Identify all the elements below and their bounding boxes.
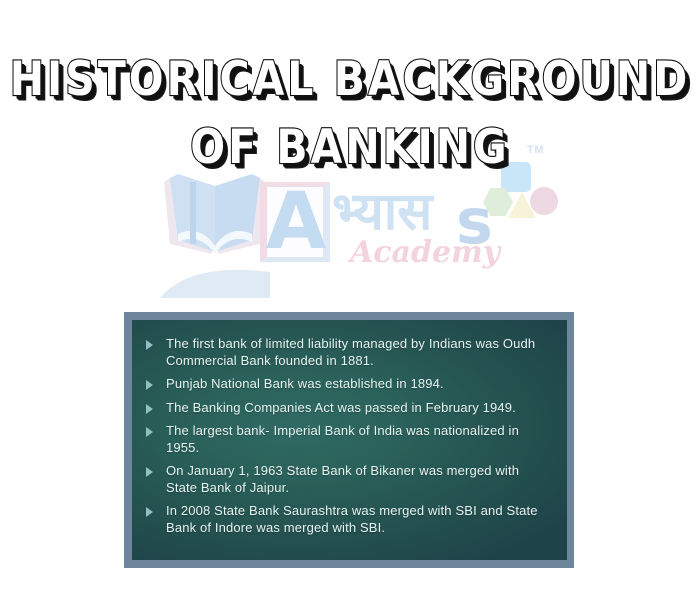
open-book-icon: [160, 168, 270, 260]
circle-shape: [530, 187, 558, 215]
bullet-arrow-icon: [146, 467, 153, 477]
list-item-text: The largest bank- Imperial Bank of India…: [166, 423, 519, 455]
content-box: The first bank of limited liability mana…: [124, 312, 574, 568]
slide-canvas: A भ्यास s Academy TM HISTORICAL BACKGROU…: [0, 0, 700, 600]
list-item-text: Punjab National Bank was established in …: [166, 376, 444, 391]
logo-letter-a: A: [264, 184, 326, 260]
logo-academy-text: Academy: [350, 238, 500, 268]
title-line-2: OF BANKING: [0, 120, 700, 173]
title-line-1: HISTORICAL BACKGROUND: [0, 52, 700, 105]
content-box-interior: The first bank of limited liability mana…: [132, 320, 567, 560]
hexagon-shape: [483, 188, 513, 216]
list-item: The Banking Companies Act was passed in …: [144, 400, 551, 417]
logo-letter-frame: [260, 182, 330, 262]
list-item-text: In 2008 State Bank Saurashtra was merged…: [166, 503, 538, 535]
triangle-shape: [508, 192, 536, 218]
list-item-text: The Banking Companies Act was passed in …: [166, 400, 516, 415]
swoosh-decoration: [160, 258, 280, 298]
bullet-arrow-icon: [146, 427, 153, 437]
logo-trailing-letter: s: [456, 192, 493, 252]
page-title: HISTORICAL BACKGROUND OF BANKING: [0, 52, 700, 166]
bullet-arrow-icon: [146, 380, 153, 390]
list-item-text: The first bank of limited liability mana…: [166, 336, 535, 368]
logo-devanagari-text: भ्यास: [332, 186, 432, 238]
list-item: In 2008 State Bank Saurashtra was merged…: [144, 503, 551, 536]
bullet-arrow-icon: [146, 404, 153, 414]
list-item: On January 1, 1963 State Bank of Bikaner…: [144, 463, 551, 496]
bullet-arrow-icon: [146, 507, 153, 517]
list-item: Punjab National Bank was established in …: [144, 376, 551, 393]
bullet-list: The first bank of limited liability mana…: [144, 336, 551, 536]
bullet-arrow-icon: [146, 340, 153, 350]
list-item-text: On January 1, 1963 State Bank of Bikaner…: [166, 463, 519, 495]
list-item: The largest bank- Imperial Bank of India…: [144, 423, 551, 456]
list-item: The first bank of limited liability mana…: [144, 336, 551, 369]
